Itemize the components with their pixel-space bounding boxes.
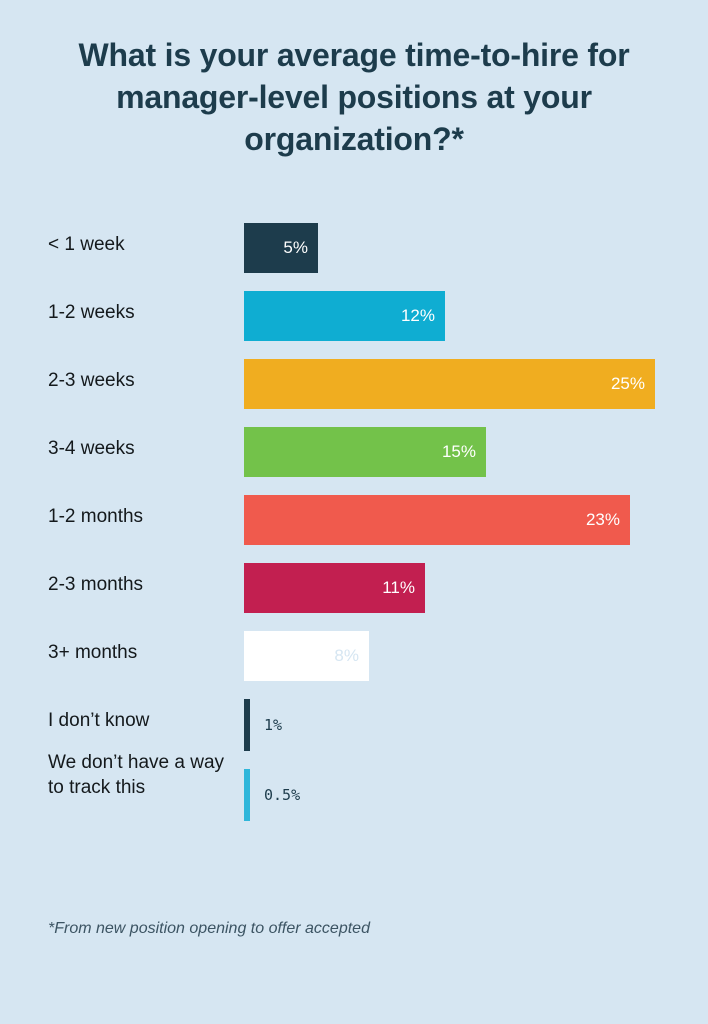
bar-value-label: 0.5% — [264, 769, 300, 821]
bar-value-label: 8% — [334, 631, 359, 681]
bar-value-label: 1% — [264, 699, 282, 751]
bar-category-label: 3+ months — [48, 640, 228, 665]
bar-category-label: I don’t know — [48, 708, 228, 733]
bar-row: 2-3 weeks25% — [0, 354, 708, 406]
bar-row: I don’t know1% — [0, 694, 708, 746]
bar-track: 1% — [244, 699, 250, 749]
bar-value-label: 11% — [382, 563, 415, 613]
chart-card: What is your average time-to-hire for ma… — [0, 0, 708, 1024]
bar-rect[interactable] — [244, 769, 250, 821]
bar-rect[interactable] — [244, 359, 655, 409]
bar-value-label: 15% — [442, 427, 476, 477]
bar-track: 0.5% — [244, 769, 250, 819]
bar-row: < 1 week5% — [0, 218, 708, 270]
bar-track: 12% — [244, 291, 445, 341]
bar-track: 11% — [244, 563, 425, 613]
chart-title: What is your average time-to-hire for ma… — [40, 34, 668, 160]
bar-row: 1-2 weeks12% — [0, 286, 708, 338]
bar-value-label: 25% — [611, 359, 645, 409]
bar-track: 8% — [244, 631, 369, 681]
bar-category-label: 2-3 months — [48, 572, 228, 597]
bar-value-label: 12% — [401, 291, 435, 341]
bar-value-label: 23% — [586, 495, 620, 545]
bar-track: 25% — [244, 359, 655, 409]
bar-category-label: < 1 week — [48, 232, 228, 257]
bar-category-label: 1-2 weeks — [48, 300, 228, 325]
bar-rect[interactable] — [244, 699, 250, 751]
bar-row: We don’t have a way to track this0.5% — [0, 764, 708, 816]
bar-track: 15% — [244, 427, 486, 477]
bar-category-label: 3-4 weeks — [48, 436, 228, 461]
bar-category-label: 2-3 weeks — [48, 368, 228, 393]
bar-category-label: We don’t have a way to track this — [48, 750, 228, 800]
bar-rect[interactable] — [244, 495, 630, 545]
bar-category-label: 1-2 months — [48, 504, 228, 529]
bar-track: 5% — [244, 223, 318, 273]
chart-footnote: *From new position opening to offer acce… — [48, 920, 370, 938]
bar-row: 1-2 months23% — [0, 490, 708, 542]
bar-row: 2-3 months11% — [0, 558, 708, 610]
bar-value-label: 5% — [283, 223, 308, 273]
bar-track: 23% — [244, 495, 630, 545]
bar-row: 3+ months8% — [0, 626, 708, 678]
bar-chart-plot-area: < 1 week5%1-2 weeks12%2-3 weeks25%3-4 we… — [0, 208, 708, 858]
bar-row: 3-4 weeks15% — [0, 422, 708, 474]
